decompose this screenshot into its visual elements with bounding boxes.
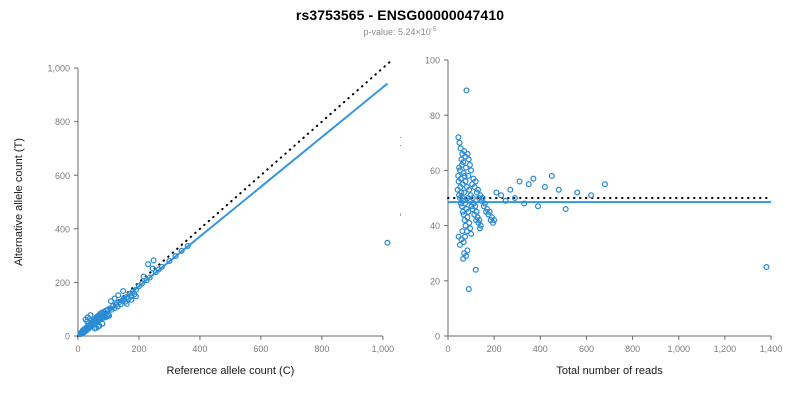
y-tick-label: 800 bbox=[55, 117, 70, 127]
data-points bbox=[78, 240, 390, 336]
data-point bbox=[508, 187, 513, 192]
data-point bbox=[468, 162, 473, 167]
y-tick-label: 400 bbox=[55, 224, 70, 234]
x-tick-label: 200 bbox=[487, 344, 502, 354]
y-tick-label: 1,000 bbox=[47, 64, 70, 74]
data-point bbox=[466, 287, 471, 292]
x-tick-label: 1,000 bbox=[668, 344, 691, 354]
y-tick-label: 60 bbox=[430, 166, 440, 176]
left-plot-svg: 02004006008001,00002004006008001,000Refe… bbox=[0, 46, 400, 400]
data-point bbox=[464, 88, 469, 93]
data-point bbox=[463, 223, 468, 228]
data-point bbox=[589, 193, 594, 198]
page-title: rs3753565 - ENSG00000047410 bbox=[0, 7, 800, 23]
data-point bbox=[385, 240, 390, 245]
data-point bbox=[517, 179, 522, 184]
x-tick-label: 1,000 bbox=[372, 344, 395, 354]
data-point bbox=[456, 135, 461, 140]
x-tick-label: 800 bbox=[625, 344, 640, 354]
y-tick-label: 20 bbox=[430, 276, 440, 286]
data-point bbox=[549, 174, 554, 179]
x-tick-label: 600 bbox=[579, 344, 594, 354]
y-tick-label: 100 bbox=[425, 56, 440, 66]
data-point bbox=[469, 231, 474, 236]
data-point bbox=[575, 190, 580, 195]
data-point bbox=[543, 185, 548, 190]
x-axis-title: Total number of reads bbox=[556, 365, 663, 377]
title-block: rs3753565 - ENSG00000047410 p-value: 5.2… bbox=[0, 0, 800, 38]
pvalue-text: p-value: 5.24×10 bbox=[363, 27, 430, 37]
pvalue-subtitle: p-value: 5.24×10-5 bbox=[0, 27, 800, 38]
x-tick-label: 200 bbox=[131, 344, 146, 354]
data-point bbox=[121, 289, 126, 294]
y-tick-label: 40 bbox=[430, 221, 440, 231]
data-point bbox=[494, 190, 499, 195]
y-tick-label: 0 bbox=[435, 332, 440, 342]
data-point bbox=[531, 176, 536, 181]
y-tick-label: 0 bbox=[65, 332, 70, 342]
scatter-panel-allele-counts: 02004006008001,00002004006008001,000Refe… bbox=[0, 46, 400, 400]
y-tick-label: 80 bbox=[430, 111, 440, 121]
data-point bbox=[526, 182, 531, 187]
data-point bbox=[563, 207, 568, 212]
x-tick-label: 1,200 bbox=[714, 344, 737, 354]
data-point bbox=[465, 248, 470, 253]
data-point bbox=[469, 168, 474, 173]
data-point bbox=[146, 262, 151, 267]
pvalue-exponent: -5 bbox=[431, 26, 437, 33]
data-point bbox=[151, 258, 156, 263]
data-point bbox=[116, 293, 121, 298]
data-point bbox=[458, 243, 463, 248]
x-tick-label: 400 bbox=[533, 344, 548, 354]
data-point bbox=[457, 140, 462, 145]
data-point bbox=[556, 187, 561, 192]
data-point bbox=[463, 234, 468, 239]
x-axis-title: Reference allele count (C) bbox=[167, 365, 295, 377]
data-point bbox=[603, 182, 608, 187]
x-tick-label: 0 bbox=[445, 344, 450, 354]
y-tick-label: 200 bbox=[55, 278, 70, 288]
x-tick-label: 600 bbox=[253, 344, 268, 354]
x-tick-label: 1,400 bbox=[760, 344, 783, 354]
x-tick-label: 800 bbox=[314, 344, 329, 354]
right-plot-svg: 02040608010002004006008001,0001,2001,400… bbox=[400, 46, 800, 400]
data-point bbox=[536, 204, 541, 209]
x-tick-label: 400 bbox=[192, 344, 207, 354]
y-axis-title: Percentage alternative (T) bbox=[400, 134, 401, 261]
x-tick-label: 0 bbox=[75, 344, 80, 354]
y-axis-title: Alternative allele count (T) bbox=[13, 138, 25, 266]
data-point bbox=[764, 265, 769, 270]
data-points bbox=[455, 88, 769, 292]
scatter-panel-percentage: 02040608010002004006008001,0001,2001,400… bbox=[400, 46, 800, 400]
data-point bbox=[499, 193, 504, 198]
figure-root: rs3753565 - ENSG00000047410 p-value: 5.2… bbox=[0, 0, 800, 400]
data-point bbox=[109, 299, 114, 304]
y-tick-label: 600 bbox=[55, 171, 70, 181]
data-point bbox=[466, 157, 471, 162]
data-point bbox=[473, 267, 478, 272]
